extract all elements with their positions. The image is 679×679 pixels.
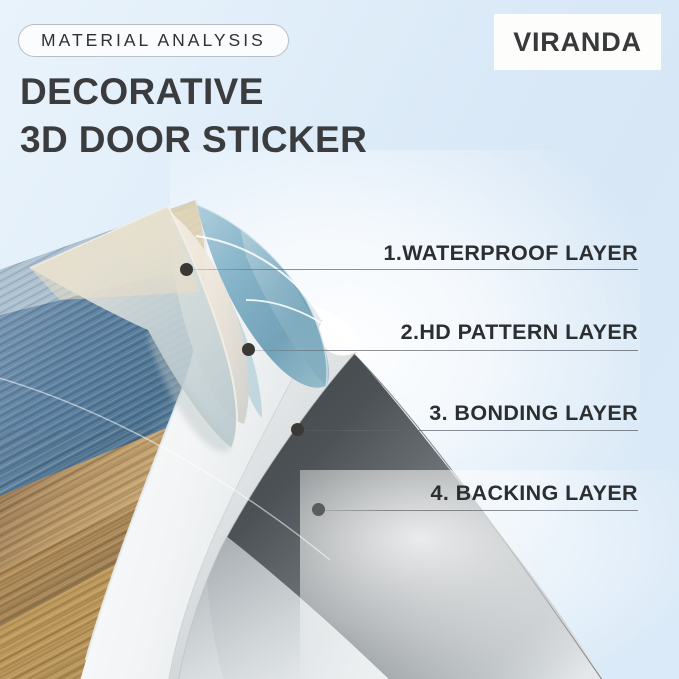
callout-dot-waterproof[interactable] bbox=[180, 263, 193, 276]
page-title-line-2: 3D DOOR STICKER bbox=[20, 118, 367, 162]
eyebrow-pill: MATERIAL ANALYSIS bbox=[18, 24, 289, 57]
callout-dot-hd-pattern[interactable] bbox=[242, 343, 255, 356]
callout-rule-bonding bbox=[304, 430, 638, 431]
eyebrow-label: MATERIAL ANALYSIS bbox=[41, 30, 266, 51]
page-title-line-1: DECORATIVE bbox=[20, 70, 367, 114]
callout-label-backing: 4. BACKING LAYER bbox=[430, 481, 638, 506]
callout-dot-bonding[interactable] bbox=[291, 423, 304, 436]
callout-label-bonding: 3. BONDING LAYER bbox=[429, 401, 638, 426]
callout-rule-backing bbox=[325, 510, 638, 511]
page-title: DECORATIVE 3D DOOR STICKER bbox=[20, 70, 367, 162]
brand-name: VIRANDA bbox=[513, 27, 642, 58]
callout-rule-hd-pattern bbox=[255, 350, 638, 351]
poster-canvas: MATERIAL ANALYSIS DECORATIVE 3D DOOR STI… bbox=[0, 0, 679, 679]
callout-label-waterproof: 1.WATERPROOF LAYER bbox=[384, 241, 638, 266]
callout-rule-waterproof bbox=[193, 269, 638, 270]
brand-logo-panel: VIRANDA bbox=[494, 14, 661, 70]
callout-label-hd-pattern: 2.HD PATTERN LAYER bbox=[401, 320, 638, 345]
callout-dot-backing[interactable] bbox=[312, 503, 325, 516]
